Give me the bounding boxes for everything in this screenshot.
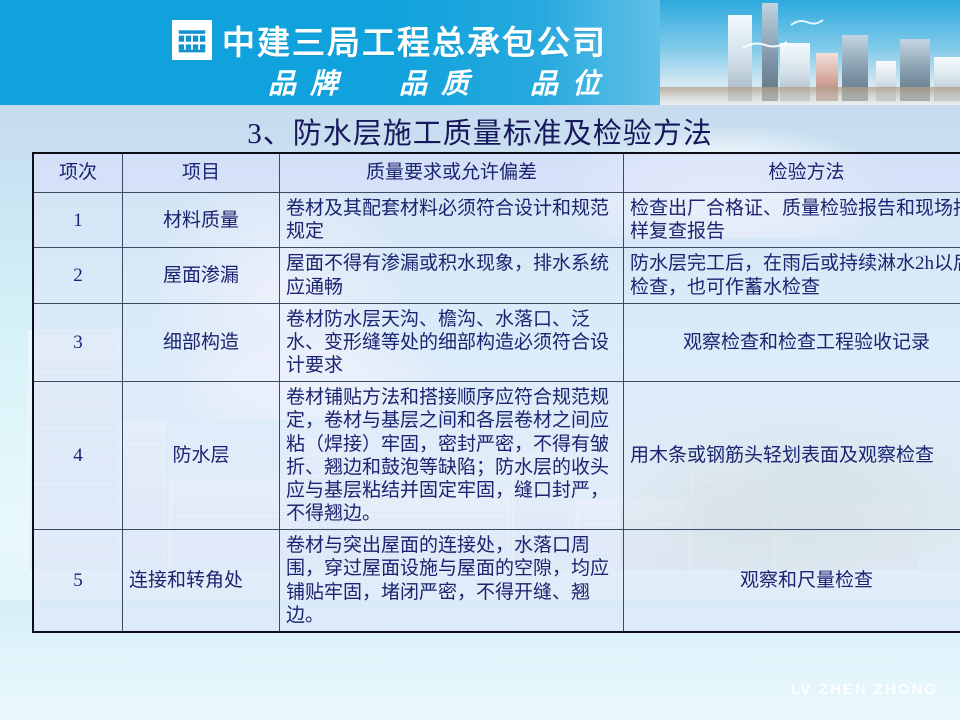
cell-no: 1 — [33, 193, 123, 248]
spec-table-wrap: 项次 项目 质量要求或允许偏差 检验方法 1 材料质量 卷材及其配套材料必须符合… — [32, 152, 938, 633]
page-title: 3、防水层施工质量标准及检验方法 — [0, 110, 960, 152]
slide-canvas: 中建三局工程总承包公司 品牌 品质 品位 3、防水层施工质量标准及检验方法 项次… — [0, 0, 960, 720]
cell-item: 屋面渗漏 — [123, 248, 280, 303]
cell-requirement: 卷材防水层天沟、檐沟、水落口、泛水、变形缝等处的细部构造必须符合设计要求 — [280, 303, 624, 382]
cell-item: 防水层 — [123, 382, 280, 530]
table-row: 1 材料质量 卷材及其配套材料必须符合设计和规范规定 检查出厂合格证、质量检验报… — [33, 193, 960, 248]
cell-requirement: 卷材铺贴方法和搭接顺序应符合规范规定，卷材与基层之间和各层卷材之间应粘（焊接）牢… — [280, 382, 624, 530]
cell-item: 材料质量 — [123, 193, 280, 248]
company-building-logo-icon — [172, 20, 212, 60]
cell-no: 4 — [33, 382, 123, 530]
col-header-method: 检验方法 — [624, 153, 960, 193]
cell-method: 防水层完工后，在雨后或持续淋水2h以后检查，也可作蓄水检查 — [624, 248, 960, 303]
cell-method: 检查出厂合格证、质量检验报告和现场抽样复查报告 — [624, 193, 960, 248]
cell-no: 3 — [33, 303, 123, 382]
header-banner: 中建三局工程总承包公司 品牌 品质 品位 — [0, 0, 960, 105]
table-row: 5 连接和转角处 卷材与突出屋面的连接处，水落口周围，穿过屋面设施与屋面的空隙，… — [33, 530, 960, 632]
cell-method: 用木条或钢筋头轻划表面及观察检查 — [624, 382, 960, 530]
table-header-row: 项次 项目 质量要求或允许偏差 检验方法 — [33, 153, 960, 193]
bird-icon — [790, 18, 824, 28]
company-name: 中建三局工程总承包公司 — [222, 16, 607, 64]
slogan-part-2: 品质 — [399, 69, 483, 100]
company-slogan: 品牌 品质 品位 — [268, 62, 640, 102]
cell-requirement: 卷材与突出屋面的连接处，水落口周围，穿过屋面设施与屋面的空隙，均应铺贴牢固，堵闭… — [280, 530, 624, 632]
cell-no: 2 — [33, 248, 123, 303]
col-header-item: 项目 — [123, 153, 280, 193]
author-watermark: LV ZHEN ZHONG — [791, 681, 938, 698]
table-row: 3 细部构造 卷材防水层天沟、檐沟、水落口、泛水、变形缝等处的细部构造必须符合设… — [33, 303, 960, 382]
slogan-part-1: 品牌 — [268, 69, 352, 100]
cell-requirement: 卷材及其配套材料必须符合设计和规范规定 — [280, 193, 624, 248]
cell-item: 细部构造 — [123, 303, 280, 382]
table-row: 2 屋面渗漏 屋面不得有渗漏或积水现象，排水系统应通畅 防水层完工后，在雨后或持… — [33, 248, 960, 303]
col-header-requirement: 质量要求或允许偏差 — [280, 153, 624, 193]
cell-method: 观察和尺量检查 — [624, 530, 960, 632]
cell-method: 观察检查和检查工程验收记录 — [624, 303, 960, 382]
col-header-no: 项次 — [33, 153, 123, 193]
table-row: 4 防水层 卷材铺贴方法和搭接顺序应符合规范规定，卷材与基层之间和各层卷材之间应… — [33, 382, 960, 530]
cell-no: 5 — [33, 530, 123, 632]
cell-requirement: 屋面不得有渗漏或积水现象，排水系统应通畅 — [280, 248, 624, 303]
quality-standard-table: 项次 项目 质量要求或允许偏差 检验方法 1 材料质量 卷材及其配套材料必须符合… — [32, 152, 960, 633]
slogan-part-3: 品位 — [530, 69, 614, 100]
bird-icon — [742, 40, 788, 50]
banner-ground — [660, 87, 960, 105]
cell-item: 连接和转角处 — [123, 530, 280, 632]
